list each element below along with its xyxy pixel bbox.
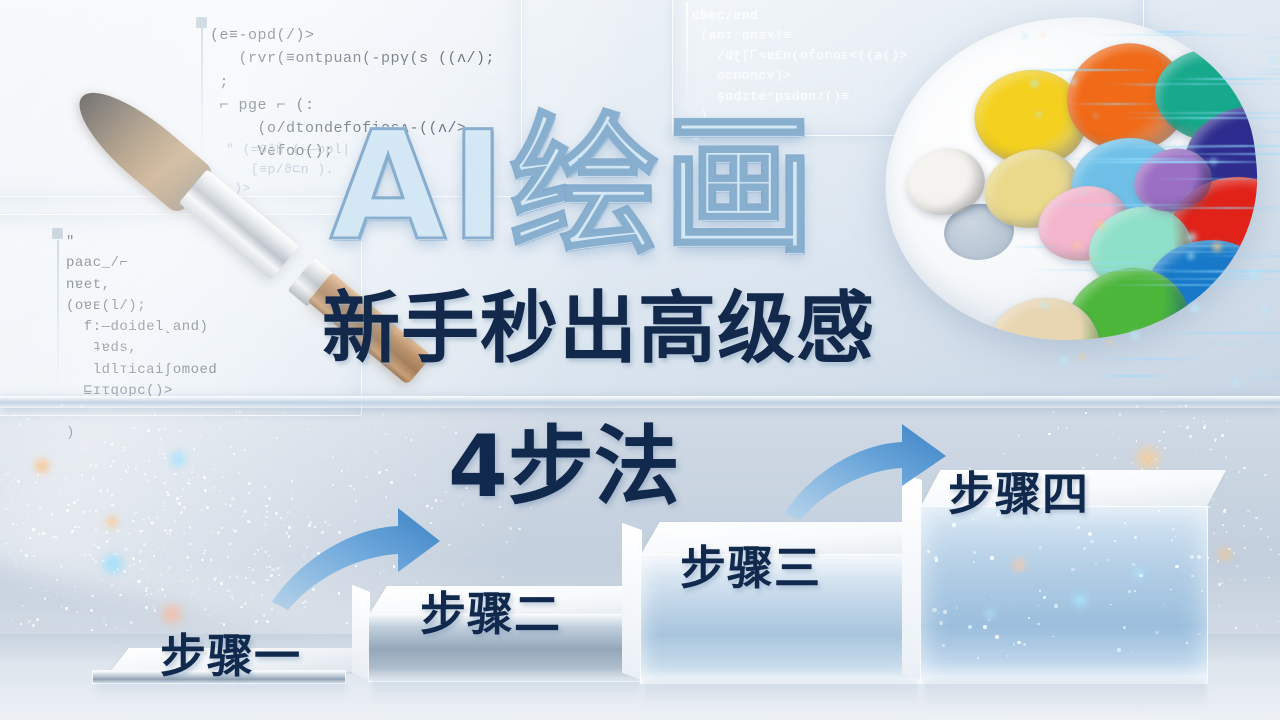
bokeh-particle bbox=[163, 521, 164, 522]
light-streak bbox=[1260, 210, 1280, 212]
bokeh-particle bbox=[150, 593, 152, 595]
bokeh-particle bbox=[210, 559, 212, 561]
light-streak bbox=[1090, 358, 1211, 360]
podium-4-inner-particle bbox=[1039, 590, 1041, 592]
bokeh-particle bbox=[209, 565, 210, 566]
bokeh-particle bbox=[92, 477, 94, 479]
bokeh-particle bbox=[1233, 552, 1235, 554]
bokeh-particle bbox=[129, 565, 131, 567]
bokeh-particle bbox=[4, 614, 5, 615]
podium-4-inner-particle bbox=[1163, 604, 1164, 605]
bokeh-particle bbox=[1066, 427, 1068, 429]
bokeh-particle bbox=[255, 442, 257, 444]
bokeh-particle bbox=[37, 474, 39, 476]
bokeh-particle bbox=[181, 488, 184, 491]
podium-4-inner-particle bbox=[1088, 532, 1092, 536]
bokeh-particle bbox=[191, 471, 193, 473]
bokeh-particle bbox=[385, 433, 387, 435]
podium-4-inner-particle bbox=[973, 561, 976, 564]
bokeh-particle bbox=[217, 531, 220, 534]
bokeh-particle bbox=[1179, 425, 1181, 427]
bokeh-particle bbox=[54, 536, 57, 539]
bokeh-particle bbox=[10, 612, 12, 614]
podium-4-inner-particle bbox=[1124, 522, 1126, 524]
bokeh-particle bbox=[124, 447, 125, 448]
bokeh-particle bbox=[139, 530, 142, 533]
bokeh-particle bbox=[91, 629, 92, 630]
bokeh-particle bbox=[104, 441, 106, 443]
bokeh-particle bbox=[195, 591, 196, 592]
bokeh-particle bbox=[219, 490, 221, 492]
bokeh-particle bbox=[64, 479, 65, 480]
bokeh-particle bbox=[141, 568, 143, 570]
step-label-2: 步骤二 bbox=[420, 578, 561, 644]
bokeh-particle bbox=[116, 554, 117, 555]
podium-4-inner-particle bbox=[973, 551, 976, 554]
bokeh-particle bbox=[108, 501, 109, 502]
bokeh-particle bbox=[29, 441, 30, 442]
bokeh-particle bbox=[40, 569, 41, 570]
bokeh-particle bbox=[28, 620, 31, 623]
bokeh-particle bbox=[106, 523, 107, 524]
bokeh-particle bbox=[356, 450, 357, 451]
podium-4-inner-particle bbox=[1155, 631, 1158, 634]
bokeh-particle bbox=[73, 501, 76, 504]
bokeh-particle bbox=[1156, 447, 1157, 448]
bokeh-particle bbox=[1256, 624, 1257, 625]
podium-4-inner-particle bbox=[983, 625, 987, 629]
bokeh-particle bbox=[151, 522, 154, 525]
bokeh-particle bbox=[148, 517, 150, 519]
bokeh-particle bbox=[11, 481, 12, 482]
bokeh-particle bbox=[141, 530, 143, 532]
bokeh-particle bbox=[156, 516, 159, 519]
bokeh-particle bbox=[101, 580, 103, 582]
bokeh-particle bbox=[235, 411, 237, 413]
bokeh-particle bbox=[518, 528, 520, 530]
bokeh-particle bbox=[291, 491, 292, 492]
bokeh-particle bbox=[81, 554, 82, 555]
bokeh-particle bbox=[174, 520, 176, 522]
bokeh-particle bbox=[111, 443, 114, 446]
bokeh-particle bbox=[128, 467, 129, 468]
bokeh-particle bbox=[0, 412, 2, 414]
bokeh-particle bbox=[392, 439, 393, 440]
bokeh-particle bbox=[1114, 457, 1116, 459]
bokeh-particle bbox=[249, 521, 251, 523]
bokeh-particle bbox=[176, 455, 177, 456]
bokeh-particle bbox=[71, 530, 74, 533]
bokeh-particle bbox=[1048, 433, 1050, 435]
bokeh-particle bbox=[1104, 425, 1105, 426]
bokeh-particle bbox=[164, 428, 166, 430]
podium-4-inner-particle bbox=[1197, 555, 1201, 559]
bokeh-particle bbox=[169, 610, 171, 612]
podium-4-inner-particle bbox=[934, 556, 938, 560]
bokeh-particle bbox=[7, 487, 9, 489]
bokeh-particle bbox=[247, 520, 249, 522]
bokeh-particle bbox=[291, 480, 293, 482]
bokeh-particle bbox=[1245, 538, 1246, 539]
bokeh-particle bbox=[375, 429, 376, 430]
bokeh-particle bbox=[99, 490, 101, 492]
podium-4-inner-particle bbox=[968, 625, 972, 629]
bokeh-particle bbox=[84, 554, 86, 556]
page-subtitle: 新手秒出高级感 bbox=[322, 290, 875, 368]
bokeh-particle bbox=[166, 533, 168, 535]
bokeh-particle bbox=[67, 504, 70, 507]
bokeh-particle bbox=[36, 454, 38, 456]
bokeh-particle bbox=[341, 470, 343, 472]
bokeh-particle bbox=[1226, 420, 1228, 422]
podium-4-front bbox=[920, 506, 1208, 684]
bokeh-particle bbox=[161, 588, 164, 591]
bokeh-particle bbox=[319, 492, 320, 493]
bokeh-particle bbox=[233, 453, 235, 455]
podium-4-inner-particle bbox=[1077, 526, 1080, 529]
bokeh-particle bbox=[448, 544, 451, 547]
bokeh-particle bbox=[180, 511, 183, 514]
bokeh-particle bbox=[154, 476, 155, 477]
bokeh-particle bbox=[482, 524, 484, 526]
bokeh-particle bbox=[1193, 417, 1195, 419]
bokeh-particle bbox=[133, 514, 135, 516]
podium-4-inner-particle bbox=[1106, 559, 1109, 562]
bokeh-particle bbox=[164, 505, 165, 506]
bokeh-particle bbox=[14, 413, 16, 415]
podium-4-inner-particle bbox=[1172, 528, 1175, 531]
bokeh-particle bbox=[179, 430, 181, 432]
bokeh-particle bbox=[121, 522, 122, 523]
bokeh-particle bbox=[245, 418, 247, 420]
bokeh-particle bbox=[135, 512, 137, 514]
bokeh-particle bbox=[53, 540, 54, 541]
bokeh-particle bbox=[227, 590, 230, 593]
bokeh-particle bbox=[1119, 438, 1120, 439]
bokeh-particle bbox=[145, 473, 146, 474]
podium-4-inner-particle bbox=[927, 550, 930, 553]
bokeh-particle bbox=[41, 497, 42, 498]
bokeh-particle bbox=[166, 491, 168, 493]
bokeh-particle bbox=[221, 527, 224, 530]
bokeh-particle bbox=[81, 405, 82, 406]
bokeh-particle bbox=[1225, 456, 1228, 459]
bokeh-particle bbox=[103, 618, 105, 620]
bokeh-particle bbox=[33, 476, 35, 478]
bokeh-particle bbox=[44, 591, 45, 592]
podium-4-inner-glow bbox=[1131, 565, 1147, 581]
bokeh-particle bbox=[193, 448, 195, 450]
bokeh-particle bbox=[111, 494, 113, 496]
bokeh-particle bbox=[169, 536, 171, 538]
bokeh-particle bbox=[111, 504, 114, 507]
bokeh-particle bbox=[125, 630, 126, 631]
bokeh-particle bbox=[210, 531, 212, 533]
bokeh-particle bbox=[213, 490, 214, 491]
podium-4-inner-particle bbox=[1170, 589, 1172, 591]
step-label-1: 步骤一 bbox=[160, 620, 301, 686]
bokeh-particle bbox=[332, 456, 334, 458]
bokeh-particle bbox=[104, 502, 106, 504]
bokeh-particle bbox=[36, 618, 39, 621]
bokeh-particle bbox=[191, 592, 193, 594]
podium-4-inner-particle bbox=[1191, 575, 1193, 577]
bokeh-particle bbox=[204, 550, 206, 552]
bokeh-particle bbox=[102, 560, 105, 563]
bokeh-particle bbox=[264, 486, 266, 488]
bokeh-particle bbox=[1159, 440, 1161, 442]
headline-4step: 4步法 bbox=[448, 424, 680, 510]
bokeh-particle bbox=[191, 471, 193, 473]
bokeh-particle bbox=[183, 506, 186, 509]
bokeh-particle bbox=[221, 468, 222, 469]
code-gutter-line-c bbox=[686, 2, 688, 114]
bokeh-particle bbox=[133, 427, 135, 429]
podium-4-inner-particle bbox=[1201, 590, 1202, 591]
podium-4-inner-particle bbox=[1134, 536, 1137, 539]
bokeh-particle bbox=[213, 468, 216, 471]
bokeh-particle bbox=[65, 607, 68, 610]
bokeh-glow bbox=[31, 455, 53, 477]
podium-4-inner-particle bbox=[1186, 642, 1188, 644]
bokeh-particle bbox=[177, 502, 179, 504]
podium-4-inner-particle bbox=[995, 635, 999, 639]
light-spark bbox=[1268, 56, 1277, 65]
bokeh-particle bbox=[346, 622, 349, 625]
bokeh-particle bbox=[41, 460, 43, 462]
bokeh-particle bbox=[105, 531, 108, 534]
bokeh-particle bbox=[4, 474, 6, 476]
bokeh-particle bbox=[101, 562, 102, 563]
bokeh-particle bbox=[196, 477, 197, 478]
bokeh-particle bbox=[246, 420, 247, 421]
bokeh-particle bbox=[56, 579, 58, 581]
bokeh-particle bbox=[146, 479, 149, 482]
bokeh-particle bbox=[250, 490, 251, 491]
bokeh-particle bbox=[220, 582, 223, 585]
brush-ferrule bbox=[179, 169, 299, 280]
bokeh-particle bbox=[74, 526, 76, 528]
bokeh-particle bbox=[116, 474, 117, 475]
bokeh-particle bbox=[106, 540, 109, 543]
bokeh-particle bbox=[169, 529, 172, 532]
bokeh-particle bbox=[1196, 453, 1197, 454]
bokeh-particle bbox=[252, 569, 254, 571]
bokeh-particle bbox=[111, 565, 114, 568]
podium-4-inner-particle bbox=[1114, 540, 1115, 541]
bokeh-particle bbox=[1243, 525, 1245, 527]
bokeh-particle bbox=[27, 505, 29, 507]
bokeh-particle bbox=[139, 493, 140, 494]
podium-4-inner-particle bbox=[1038, 605, 1039, 606]
bokeh-particle bbox=[1018, 434, 1020, 436]
bokeh-particle bbox=[105, 624, 107, 626]
light-streak bbox=[1094, 375, 1172, 377]
bokeh-particle bbox=[252, 594, 254, 596]
bokeh-particle bbox=[1278, 621, 1279, 622]
bokeh-particle bbox=[1230, 580, 1231, 581]
bokeh-particle bbox=[1204, 424, 1206, 426]
bokeh-particle bbox=[230, 483, 231, 484]
bokeh-particle bbox=[1223, 510, 1226, 513]
bokeh-glow bbox=[166, 447, 190, 471]
bokeh-particle bbox=[229, 543, 231, 545]
bokeh-particle bbox=[192, 581, 194, 583]
bokeh-particle bbox=[469, 552, 471, 554]
bokeh-particle bbox=[347, 470, 348, 471]
bokeh-particle bbox=[132, 557, 135, 560]
bokeh-particle bbox=[197, 498, 199, 500]
podium-4-inner-particle bbox=[1171, 540, 1173, 542]
paint-brush bbox=[58, 30, 358, 330]
bokeh-particle bbox=[232, 529, 233, 530]
bokeh-particle bbox=[89, 554, 91, 556]
light-streak bbox=[1272, 228, 1280, 230]
bokeh-particle bbox=[230, 446, 232, 448]
bokeh-particle bbox=[1217, 560, 1219, 562]
bokeh-particle bbox=[254, 553, 256, 555]
bokeh-particle bbox=[418, 433, 420, 435]
bokeh-particle bbox=[182, 472, 183, 473]
bokeh-particle bbox=[1268, 577, 1269, 578]
bokeh-particle bbox=[110, 465, 112, 467]
bokeh-particle bbox=[243, 510, 246, 513]
bokeh-particle bbox=[90, 463, 93, 466]
bokeh-particle bbox=[237, 509, 238, 510]
podium-4-inner-particle bbox=[935, 559, 938, 562]
podium-4-inner-particle bbox=[1017, 641, 1020, 644]
bokeh-particle bbox=[5, 543, 6, 544]
bokeh-particle bbox=[1161, 411, 1163, 413]
bokeh-particle bbox=[190, 566, 191, 567]
bokeh-particle bbox=[1131, 462, 1133, 464]
bokeh-particle bbox=[196, 578, 198, 580]
podium-4-inner-particle bbox=[1090, 540, 1093, 543]
bokeh-particle bbox=[82, 511, 85, 514]
bokeh-particle bbox=[93, 514, 94, 515]
bokeh-particle bbox=[132, 520, 134, 522]
bokeh-particle bbox=[20, 550, 22, 552]
bokeh-particle bbox=[116, 568, 119, 571]
bokeh-particle bbox=[1118, 428, 1119, 429]
bokeh-particle bbox=[163, 453, 165, 455]
bokeh-particle bbox=[201, 559, 204, 562]
bokeh-particle bbox=[81, 479, 82, 480]
bokeh-particle bbox=[32, 528, 35, 531]
bokeh-particle bbox=[17, 480, 20, 483]
bokeh-particle bbox=[74, 586, 76, 588]
bokeh-particle bbox=[24, 569, 25, 570]
podium-4-inner-glow bbox=[1009, 555, 1029, 575]
bokeh-particle bbox=[1208, 506, 1210, 508]
bokeh-particle bbox=[39, 507, 41, 509]
bokeh-particle bbox=[1057, 427, 1059, 429]
bokeh-particle bbox=[169, 533, 171, 535]
bokeh-particle bbox=[1072, 452, 1073, 453]
podium-4-inner-particle bbox=[1128, 590, 1131, 593]
bokeh-particle bbox=[160, 574, 162, 576]
bokeh-particle bbox=[125, 530, 127, 532]
bokeh-particle bbox=[61, 519, 62, 520]
bokeh-particle bbox=[148, 578, 150, 580]
bokeh-particle bbox=[22, 605, 23, 606]
bokeh-particle bbox=[181, 464, 182, 465]
bokeh-particle bbox=[112, 460, 114, 462]
bokeh-particle bbox=[244, 602, 247, 605]
bokeh-particle bbox=[1277, 471, 1278, 472]
bokeh-particle bbox=[93, 544, 95, 546]
arrow-step3-to-step4 bbox=[778, 418, 958, 528]
bokeh-particle bbox=[48, 601, 49, 602]
bokeh-particle bbox=[1185, 405, 1187, 407]
light-spark bbox=[1231, 376, 1242, 387]
bokeh-particle bbox=[106, 489, 109, 492]
bokeh-particle bbox=[124, 449, 125, 450]
bokeh-particle bbox=[1215, 440, 1217, 442]
bokeh-particle bbox=[200, 416, 201, 417]
bokeh-particle bbox=[1214, 438, 1217, 441]
bokeh-particle bbox=[188, 522, 189, 523]
bokeh-particle bbox=[115, 484, 117, 486]
bokeh-particle bbox=[126, 547, 127, 548]
bokeh-particle bbox=[89, 510, 91, 512]
podium-2-reflection bbox=[372, 680, 640, 702]
podium-4-reflection bbox=[924, 682, 1206, 710]
light-streak bbox=[1259, 37, 1280, 39]
bokeh-particle bbox=[109, 480, 110, 481]
bokeh-particle bbox=[115, 627, 117, 629]
podium-3-reflection bbox=[644, 682, 918, 708]
bokeh-particle bbox=[1255, 517, 1257, 519]
bokeh-particle bbox=[187, 482, 189, 484]
bokeh-particle bbox=[44, 597, 47, 600]
bokeh-particle bbox=[122, 450, 124, 452]
bokeh-particle bbox=[1222, 524, 1224, 526]
bokeh-particle bbox=[1003, 453, 1005, 455]
podium-4-inner-particle bbox=[1013, 643, 1016, 646]
bokeh-particle bbox=[239, 411, 241, 413]
bokeh-particle bbox=[164, 482, 166, 484]
bokeh-particle bbox=[174, 473, 177, 476]
bokeh-particle bbox=[58, 493, 61, 496]
bokeh-particle bbox=[1158, 440, 1160, 442]
light-spark bbox=[1106, 339, 1113, 346]
podium-4-inner-particle bbox=[1175, 565, 1179, 569]
bokeh-particle bbox=[156, 428, 157, 429]
bokeh-particle bbox=[236, 575, 239, 578]
podium-4-inner-particle bbox=[1117, 648, 1121, 652]
bokeh-particle bbox=[100, 489, 103, 492]
bokeh-particle bbox=[180, 496, 181, 497]
light-streak bbox=[1255, 160, 1280, 162]
page-title-glass: AI绘画 bbox=[330, 112, 818, 262]
bokeh-particle bbox=[204, 489, 207, 492]
bokeh-particle bbox=[245, 577, 247, 579]
bokeh-particle bbox=[81, 474, 83, 476]
bokeh-particle bbox=[5, 508, 7, 510]
bokeh-particle bbox=[1164, 447, 1166, 449]
bokeh-particle bbox=[1243, 467, 1245, 469]
bokeh-particle bbox=[56, 594, 57, 595]
bokeh-particle bbox=[125, 470, 127, 472]
bokeh-particle bbox=[126, 472, 128, 474]
bokeh-particle bbox=[189, 483, 191, 485]
bokeh-particle bbox=[208, 588, 210, 590]
podium-4-inner-particle bbox=[1054, 604, 1058, 608]
bokeh-particle bbox=[1244, 579, 1246, 581]
bokeh-particle bbox=[219, 569, 220, 570]
bokeh-particle bbox=[1235, 627, 1237, 629]
